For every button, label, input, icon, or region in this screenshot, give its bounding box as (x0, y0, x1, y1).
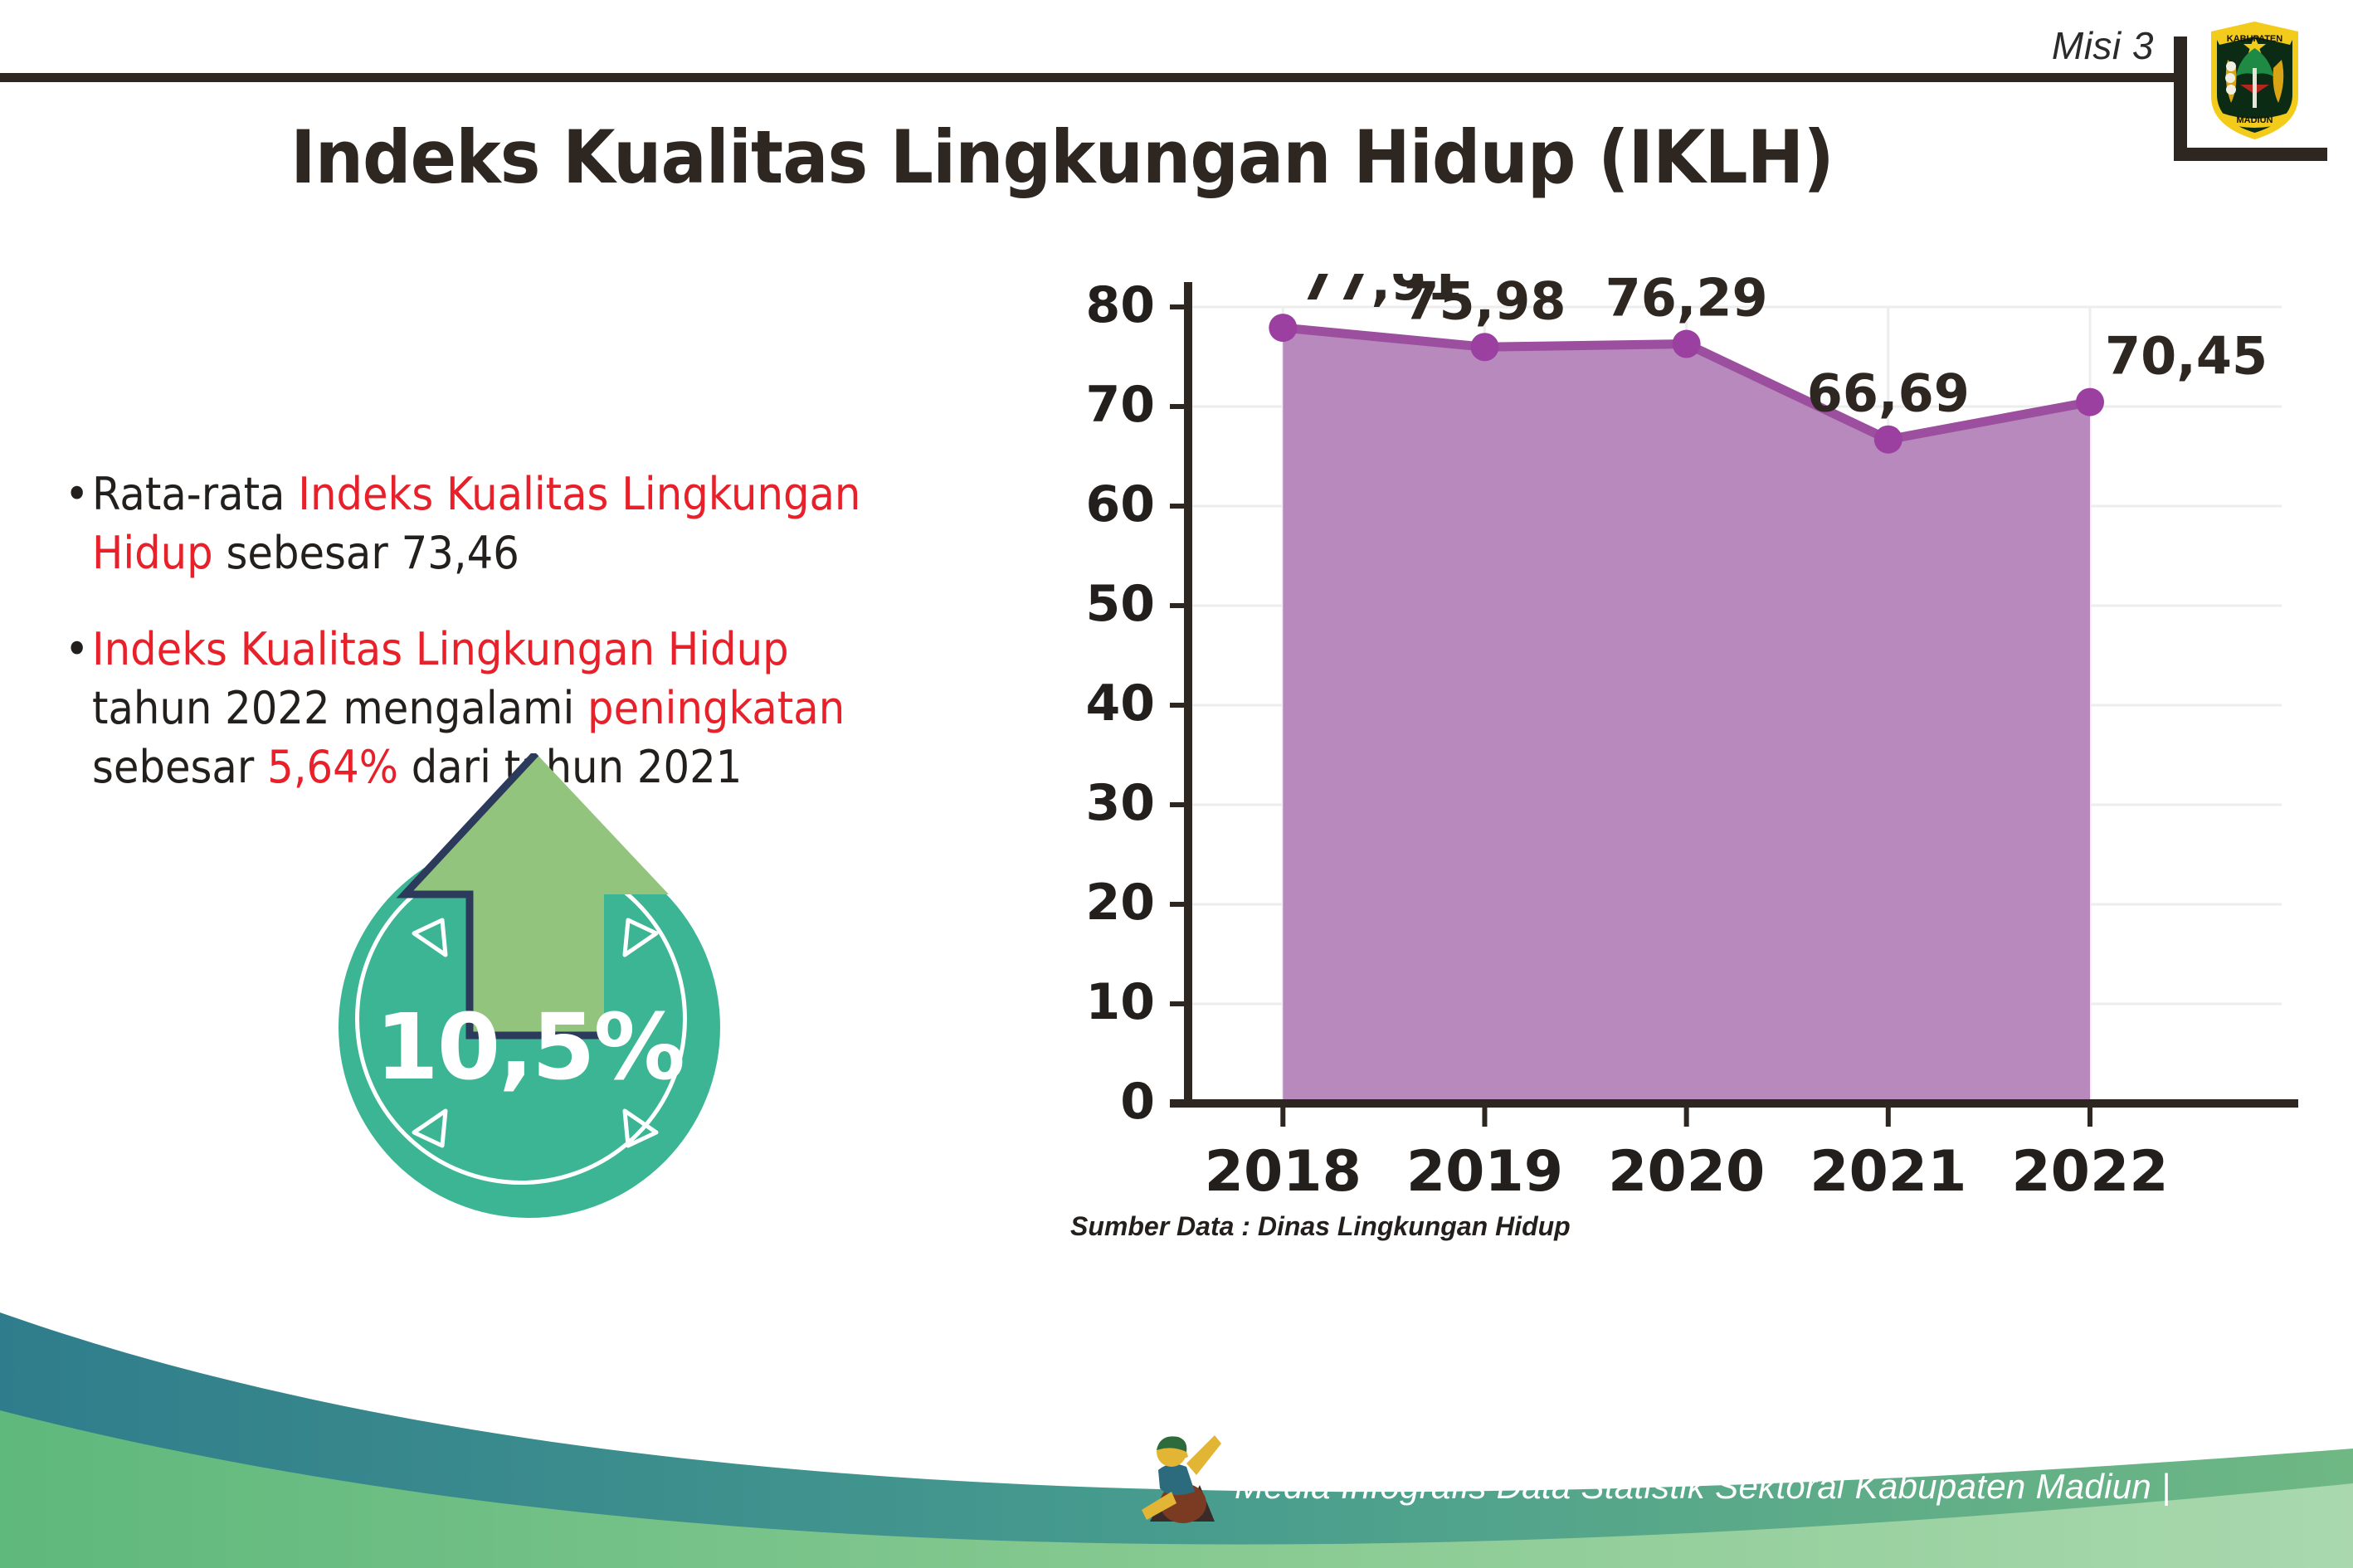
y-axis-labels: 01020304050607080 (1086, 276, 1156, 1131)
mission-label: Misi 3 (2052, 23, 2154, 68)
data-point-label: 66,69 (1807, 363, 1970, 424)
chart-svg: 01020304050607080 20182019202020212022 7… (954, 274, 2298, 1211)
data-point-marker (1470, 333, 1498, 361)
badge-arrow-tri-bottom-left (409, 1106, 454, 1151)
header-bracket-vertical (2174, 37, 2187, 161)
bullet-text-0: Rata-rata Indeks Kualitas Lingkungan Hid… (92, 465, 912, 583)
data-point-marker (1269, 314, 1297, 342)
crest-bottom-text: MADIUN (2237, 115, 2273, 125)
header-rule (0, 73, 2187, 82)
bullet-highlight: Indeks Kualitas Lingkungan Hidup (92, 623, 789, 675)
x-axis-labels: 20182019202020212022 (1205, 1139, 2169, 1205)
bullet-marker: • (65, 465, 89, 583)
kabupaten-madiun-crest-icon: KABUPATEN MADIUN (2203, 17, 2307, 143)
increase-badge: 10,5% (322, 753, 753, 1218)
footer-caption: Media Infografis Data Statistik Sektoral… (1235, 1467, 2170, 1507)
area-fill (1283, 328, 2090, 1103)
bullet-highlight: peningkatan (587, 682, 845, 734)
crest-top-text: KABUPATEN (2227, 34, 2282, 44)
bullet-plain: sebesar 73,46 (213, 527, 519, 579)
data-point-label: 70,45 (2105, 326, 2268, 387)
x-tick-label: 2021 (1810, 1139, 1966, 1205)
data-point-marker (2076, 388, 2104, 416)
header-bracket-foot (2174, 148, 2327, 161)
badge-value: 10,5% (339, 994, 720, 1100)
chart-source-note: Sumber Data : Dinas Lingkungan Hidup (1070, 1211, 1571, 1242)
y-tick-label: 50 (1086, 575, 1156, 633)
bullet-plain: Rata-rata (92, 468, 298, 520)
data-point-label: 75,98 (1403, 274, 1566, 331)
bullet-marker: • (65, 620, 89, 797)
y-tick-label: 20 (1086, 874, 1156, 932)
x-tick-label: 2018 (1205, 1139, 1362, 1205)
y-tick-label: 0 (1120, 1073, 1155, 1131)
iklh-area-chart: 01020304050607080 20182019202020212022 7… (954, 274, 2298, 1211)
badge-arrow-tri-bottom-right (616, 1106, 661, 1151)
data-point-marker (1874, 426, 1902, 454)
bullet-plain: sebesar (92, 741, 267, 793)
x-tick-label: 2019 (1406, 1139, 1563, 1205)
bullet-plain: tahun 2022 mengalami (92, 682, 587, 734)
media-infografis-logo-icon (1135, 1424, 1228, 1541)
x-tick-label: 2022 (2011, 1139, 2168, 1205)
y-tick-label: 10 (1086, 973, 1156, 1031)
y-tick-label: 30 (1086, 774, 1156, 832)
data-point-label: 76,29 (1605, 274, 1768, 329)
y-tick-label: 80 (1086, 276, 1156, 334)
bullet-item-0: • Rata-rata Indeks Kualitas Lingkungan H… (65, 465, 912, 583)
x-tick-label: 2020 (1608, 1139, 1765, 1205)
y-tick-label: 70 (1086, 376, 1156, 434)
data-point-marker (1673, 330, 1701, 358)
y-tick-label: 40 (1086, 674, 1156, 733)
page-title: Indeks Kualitas Lingkungan Hidup (IKLH) (75, 114, 2050, 200)
y-tick-label: 60 (1086, 475, 1156, 533)
